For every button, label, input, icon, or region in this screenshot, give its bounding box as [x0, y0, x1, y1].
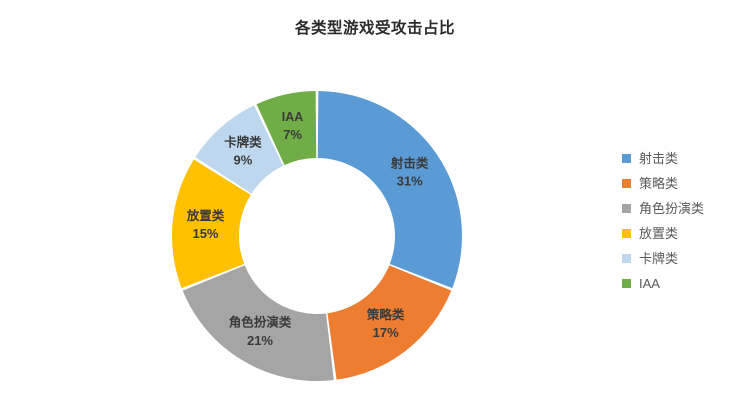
legend-item-label: 角色扮演类 — [639, 201, 704, 216]
legend-item[interactable]: 角色扮演类 — [622, 196, 740, 221]
legend-swatch-icon — [622, 279, 631, 288]
legend-item[interactable]: 卡牌类 — [622, 246, 740, 271]
slice-label-value: 7% — [283, 127, 302, 142]
legend-swatch-icon — [622, 204, 631, 213]
slice-label-name: 射击类 — [390, 155, 429, 170]
slice-label-value: 31% — [397, 173, 423, 188]
legend-swatch-icon — [622, 254, 631, 263]
legend-swatch-icon — [622, 154, 631, 163]
slice-label-name: 策略类 — [367, 307, 405, 322]
legend-item-label: 放置类 — [639, 226, 678, 241]
slice-label-value: 9% — [234, 152, 253, 167]
donut-chart-svg: 射击类31%策略类17%角色扮演类21%放置类15%卡牌类9%IAA7% — [145, 64, 490, 409]
donut-slice[interactable] — [328, 265, 452, 379]
chart-container: 各类型游戏受攻击占比 射击类31%策略类17%角色扮演类21%放置类15%卡牌类… — [0, 0, 750, 419]
donut-chart-plot-area: 射击类31%策略类17%角色扮演类21%放置类15%卡牌类9%IAA7% — [145, 64, 490, 409]
slice-label-value: 15% — [192, 226, 218, 241]
legend-item-label: 射击类 — [639, 151, 678, 166]
legend-item[interactable]: 策略类 — [622, 171, 740, 196]
legend-item[interactable]: IAA — [622, 271, 740, 296]
legend-item-label: 策略类 — [639, 176, 678, 191]
legend-item-label: IAA — [639, 276, 660, 291]
donut-slice[interactable] — [318, 91, 462, 288]
slice-label-name: 放置类 — [186, 208, 225, 223]
slice-label-name: 角色扮演类 — [229, 315, 292, 330]
legend-item-label: 卡牌类 — [639, 251, 678, 266]
chart-legend: 射击类策略类角色扮演类放置类卡牌类IAA — [622, 146, 740, 296]
legend-swatch-icon — [622, 229, 631, 238]
slice-label-name: 卡牌类 — [224, 134, 262, 149]
legend-item[interactable]: 放置类 — [622, 221, 740, 246]
chart-title: 各类型游戏受攻击占比 — [0, 19, 750, 39]
slice-label-name: IAA — [282, 110, 304, 124]
slice-label-value: 17% — [373, 325, 399, 340]
slice-label-value: 21% — [247, 333, 273, 348]
legend-item[interactable]: 射击类 — [622, 146, 740, 171]
legend-swatch-icon — [622, 179, 631, 188]
